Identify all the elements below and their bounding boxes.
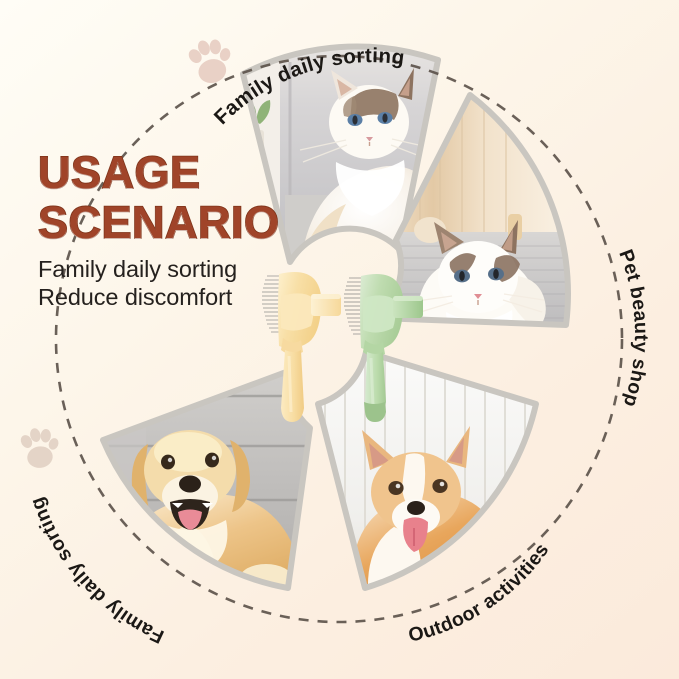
infographic-canvas: Family daily sorting Pet beauty shop Out… [0,0,679,679]
label-right: Pet beauty shop [614,247,652,410]
brush-tip [364,402,386,422]
label-bottom-right: Outdoor activities [406,539,553,647]
page-title-line1: USAGE [38,150,306,195]
brush-green [344,274,423,422]
page-title-line2: SCENARIO [38,200,306,245]
brush-handle [281,350,304,422]
brush-yellow [262,272,341,422]
paw-top-left-icon [184,33,240,88]
label-bottom-left: Family daily sorting [26,494,167,647]
paw-bottom-left-icon [17,424,63,470]
label-top: Family daily sorting [210,44,406,129]
product-image-grooming-brushes [249,246,429,431]
